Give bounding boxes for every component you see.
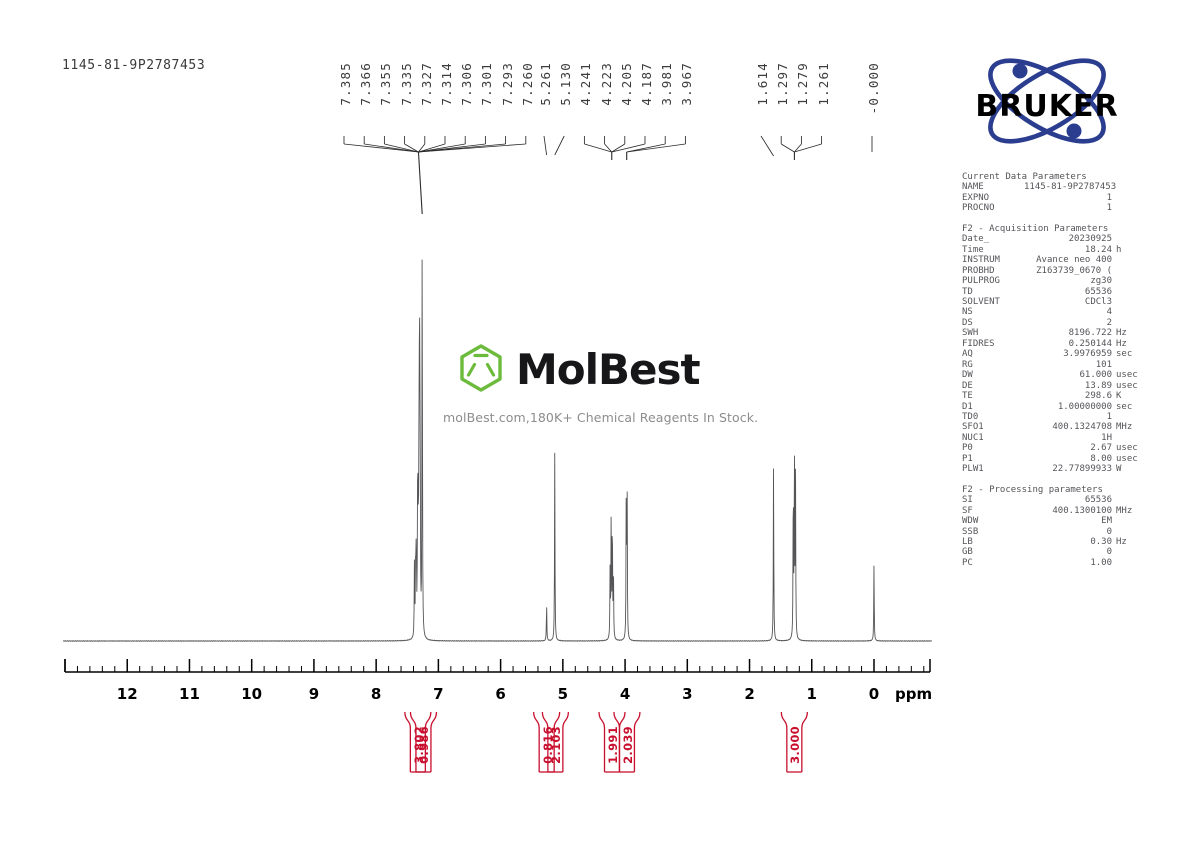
param-row: SOLVENTCDCl3 (962, 297, 1142, 307)
molbest-wordmark: MolBest (516, 349, 700, 391)
param-unit (1112, 276, 1142, 286)
param-key: PLW1 (962, 464, 1024, 474)
param-value: 101 (1024, 360, 1112, 370)
param-row: NUC11H (962, 433, 1142, 443)
param-row: DE13.89usec (962, 381, 1142, 391)
param-row: Date_20230925 (962, 234, 1142, 244)
param-value: 2 (1024, 318, 1112, 328)
param-key: Time (962, 245, 1024, 255)
param-row: SWH8196.722Hz (962, 328, 1142, 338)
param-key: GB (962, 547, 1024, 557)
param-unit: usec (1112, 370, 1142, 380)
param-value: CDCl3 (1024, 297, 1112, 307)
param-value: 20230925 (1024, 234, 1112, 244)
param-key: SWH (962, 328, 1024, 338)
param-key: WDW (962, 516, 1024, 526)
param-unit (1112, 203, 1142, 213)
param-key: SSB (962, 527, 1024, 537)
param-row: WDWEM (962, 516, 1142, 526)
param-value: 400.1324708 (1024, 422, 1112, 432)
integral-value-0.986: 0.986 (417, 726, 431, 764)
param-value: 298.6 (1024, 391, 1112, 401)
param-key: D1 (962, 402, 1024, 412)
param-unit: Hz (1112, 537, 1142, 547)
acquisition-parameters-panel: Current Data Parameters NAME1145-81-9P27… (962, 172, 1142, 568)
integral-value-2.103: 2.103 (549, 726, 563, 764)
param-row: PROCNO1 (962, 203, 1142, 213)
param-value: 8196.722 (1024, 328, 1112, 338)
param-row: DS2 (962, 318, 1142, 328)
param-unit: Hz (1112, 339, 1142, 349)
param-unit: MHz (1112, 422, 1142, 432)
param-unit (1112, 547, 1142, 557)
param-unit (1112, 307, 1142, 317)
param-unit: sec (1112, 349, 1142, 359)
param-unit: K (1112, 391, 1142, 401)
bruker-wordmark: BRUKER (964, 92, 1130, 122)
param-value: 8.00 (1024, 454, 1112, 464)
hexagon-ring-icon (455, 342, 507, 398)
param-value: 0 (1024, 547, 1112, 557)
param-row: AQ3.9976959sec (962, 349, 1142, 359)
param-key: DW (962, 370, 1024, 380)
param-unit: usec (1112, 381, 1142, 391)
param-value: 18.24 (1024, 245, 1112, 255)
param-unit: sec (1112, 402, 1142, 412)
param-key: PROCNO (962, 203, 1024, 213)
param-row: NS4 (962, 307, 1142, 317)
param-value: 1145-81-9P2787453 (1024, 182, 1116, 192)
param-unit: MHz (1112, 506, 1142, 516)
param-row: TE298.6K (962, 391, 1142, 401)
param-row: SF400.1300100MHz (962, 506, 1142, 516)
param-unit (1112, 297, 1142, 307)
param-key: NS (962, 307, 1024, 317)
param-row: LB0.30Hz (962, 537, 1142, 547)
param-value: 1 (1024, 412, 1112, 422)
param-section-head: F2 - Processing parameters (962, 485, 1142, 495)
param-value: 65536 (1024, 287, 1112, 297)
param-unit (1112, 234, 1142, 244)
param-unit (1112, 193, 1142, 203)
param-row: Time18.24h (962, 245, 1142, 255)
param-unit (1112, 318, 1142, 328)
param-key: NAME (962, 182, 1024, 192)
param-row: PC1.00 (962, 558, 1142, 568)
param-key: DS (962, 318, 1024, 328)
param-value: zg30 (1024, 276, 1112, 286)
param-key: SI (962, 495, 1024, 505)
param-value: 13.89 (1024, 381, 1112, 391)
molbest-watermark: MolBest molBest.com,180K+ Chemical Reage… (455, 342, 755, 425)
param-row: NAME1145-81-9P2787453 (962, 182, 1142, 192)
param-key: SFO1 (962, 422, 1024, 432)
param-key: Date_ (962, 234, 1024, 244)
param-value: 4 (1024, 307, 1112, 317)
param-key: AQ (962, 349, 1024, 359)
param-unit: Hz (1112, 328, 1142, 338)
param-row: PROBHDZ163739_0670 ( (962, 266, 1142, 276)
param-value: 61.000 (1024, 370, 1112, 380)
integral-value-1.991: 1.991 (606, 726, 620, 764)
param-unit (1112, 495, 1142, 505)
param-row: EXPNO1 (962, 193, 1142, 203)
bruker-logo: BRUKER (962, 52, 1132, 150)
param-value: 1.00 (1024, 558, 1112, 568)
param-key: DE (962, 381, 1024, 391)
param-key: PULPROG (962, 276, 1024, 286)
param-row: FIDRES0.250144Hz (962, 339, 1142, 349)
param-row: P02.67usec (962, 443, 1142, 453)
param-value: 1 (1024, 193, 1112, 203)
param-unit (1112, 287, 1142, 297)
param-value: Avance neo 400 (1024, 255, 1112, 265)
molbest-tagline: molBest.com,180K+ Chemical Reagents In S… (443, 410, 755, 425)
param-key: TE (962, 391, 1024, 401)
param-key: INSTRUM (962, 255, 1024, 265)
param-unit (1112, 558, 1142, 568)
param-key: RG (962, 360, 1024, 370)
param-unit (1112, 255, 1142, 265)
param-row: P18.00usec (962, 454, 1142, 464)
param-key: TD (962, 287, 1024, 297)
param-value: Z163739_0670 ( (1024, 266, 1112, 276)
param-unit (1112, 360, 1142, 370)
param-key: NUC1 (962, 433, 1024, 443)
param-key: TD0 (962, 412, 1024, 422)
param-value: 0.250144 (1024, 339, 1112, 349)
param-value: 65536 (1024, 495, 1112, 505)
param-unit: h (1112, 245, 1142, 255)
param-key: SOLVENT (962, 297, 1024, 307)
param-unit (1112, 527, 1142, 537)
param-key: P1 (962, 454, 1024, 464)
param-key: SF (962, 506, 1024, 516)
param-unit (1112, 412, 1142, 422)
param-row: DW61.000usec (962, 370, 1142, 380)
param-value: 0 (1024, 527, 1112, 537)
param-row: INSTRUMAvance neo 400 (962, 255, 1142, 265)
param-row: SI65536 (962, 495, 1142, 505)
param-value: 2.67 (1024, 443, 1112, 453)
param-value: 22.77899933 (1024, 464, 1112, 474)
param-value: 1H (1024, 433, 1112, 443)
param-row: RG101 (962, 360, 1142, 370)
param-value: 400.1300100 (1024, 506, 1112, 516)
param-key: P0 (962, 443, 1024, 453)
param-value: 3.9976959 (1024, 349, 1112, 359)
param-unit: usec (1112, 443, 1142, 453)
param-value: 1.00000000 (1024, 402, 1112, 412)
param-row: TD01 (962, 412, 1142, 422)
param-unit: usec (1112, 454, 1142, 464)
param-unit (1116, 182, 1146, 192)
param-key: PROBHD (962, 266, 1024, 276)
param-key: LB (962, 537, 1024, 547)
integral-value-2.039: 2.039 (621, 726, 635, 764)
param-value: 0.30 (1024, 537, 1112, 547)
param-section-head: Current Data Parameters (962, 172, 1142, 182)
param-row: GB0 (962, 547, 1142, 557)
param-section-head: F2 - Acquisition Parameters (962, 224, 1142, 234)
param-row: PULPROGzg30 (962, 276, 1142, 286)
param-key: FIDRES (962, 339, 1024, 349)
param-key: PC (962, 558, 1024, 568)
param-row: PLW122.77899933W (962, 464, 1142, 474)
param-unit (1112, 516, 1142, 526)
param-row: SFO1400.1324708MHz (962, 422, 1142, 432)
param-value: 1 (1024, 203, 1112, 213)
param-row: SSB0 (962, 527, 1142, 537)
param-key: EXPNO (962, 193, 1024, 203)
param-unit (1112, 433, 1142, 443)
param-unit: W (1112, 464, 1142, 474)
param-unit (1112, 266, 1142, 276)
param-row: D11.00000000sec (962, 402, 1142, 412)
integral-value-3.000: 3.000 (788, 726, 802, 764)
param-row: TD65536 (962, 287, 1142, 297)
param-value: EM (1024, 516, 1112, 526)
